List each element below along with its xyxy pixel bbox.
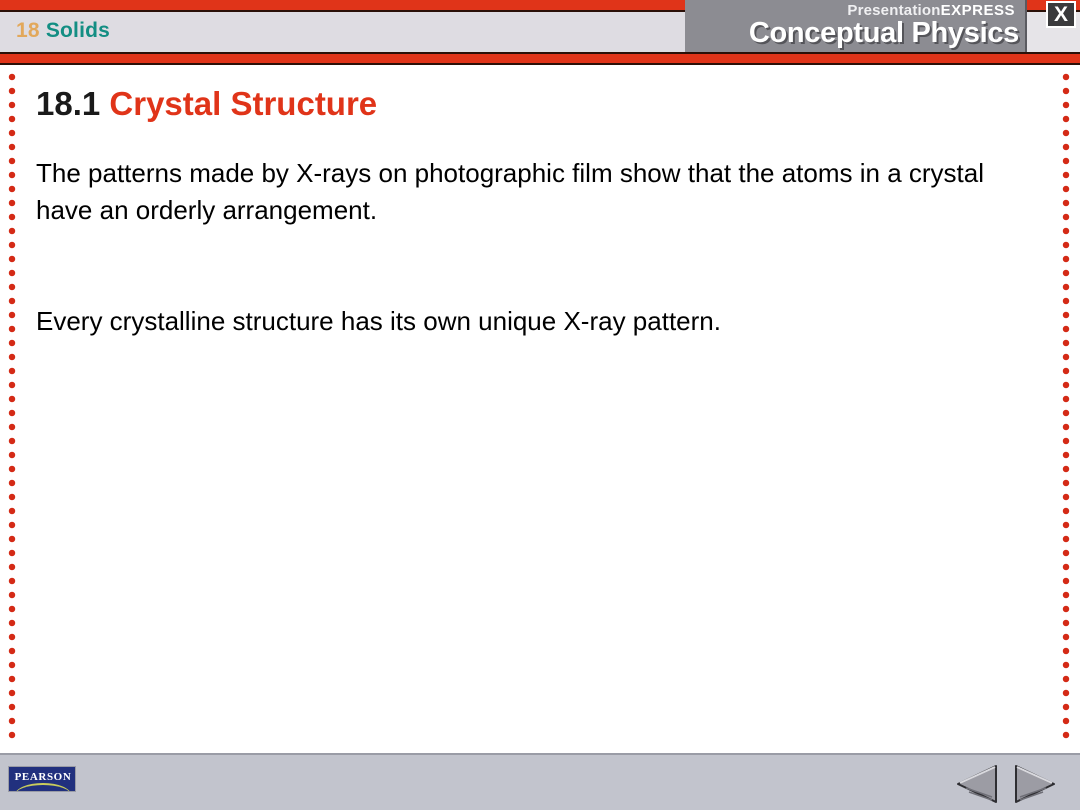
next-slide-button[interactable]: [1010, 763, 1058, 805]
slide-paragraph-1: The patterns made by X-rays on photograp…: [36, 155, 1016, 229]
close-icon[interactable]: X: [1046, 1, 1076, 28]
slide-content-area: 18.1 Crystal Structure The patterns made…: [0, 65, 1080, 753]
brand-conceptual-physics: Conceptual Physics: [749, 17, 1019, 50]
slide-title: 18.1 Crystal Structure: [36, 85, 377, 123]
slide-title-number: 18.1: [36, 85, 100, 122]
previous-slide-button[interactable]: [954, 763, 1002, 805]
pearson-logo-arc: [15, 783, 71, 792]
slide-paragraph-2: Every crystalline structure has its own …: [36, 303, 1016, 340]
top-header-bar: 18 Solids PresentationEXPRESS Conceptual…: [0, 0, 1080, 64]
chapter-name: Solids: [46, 19, 110, 42]
arrow-left-icon: [954, 763, 1002, 805]
header-red-stripe-bottom: [0, 54, 1080, 63]
slide-title-name: Crystal Structure: [109, 85, 377, 122]
pearson-logo-text: PEARSON: [9, 771, 76, 783]
arrow-right-icon: [1010, 763, 1058, 805]
slide-navigation: [954, 763, 1064, 805]
footer-bar: PEARSON: [0, 753, 1080, 810]
brand-panel: PresentationEXPRESS Conceptual Physics: [685, 0, 1027, 52]
chapter-label: 18 Solids: [16, 19, 110, 43]
slide-dotted-border-right: [1062, 73, 1070, 745]
chapter-number: 18: [16, 19, 40, 42]
pearson-logo: PEARSON: [8, 766, 76, 792]
slide-dotted-border-left: [8, 73, 16, 745]
